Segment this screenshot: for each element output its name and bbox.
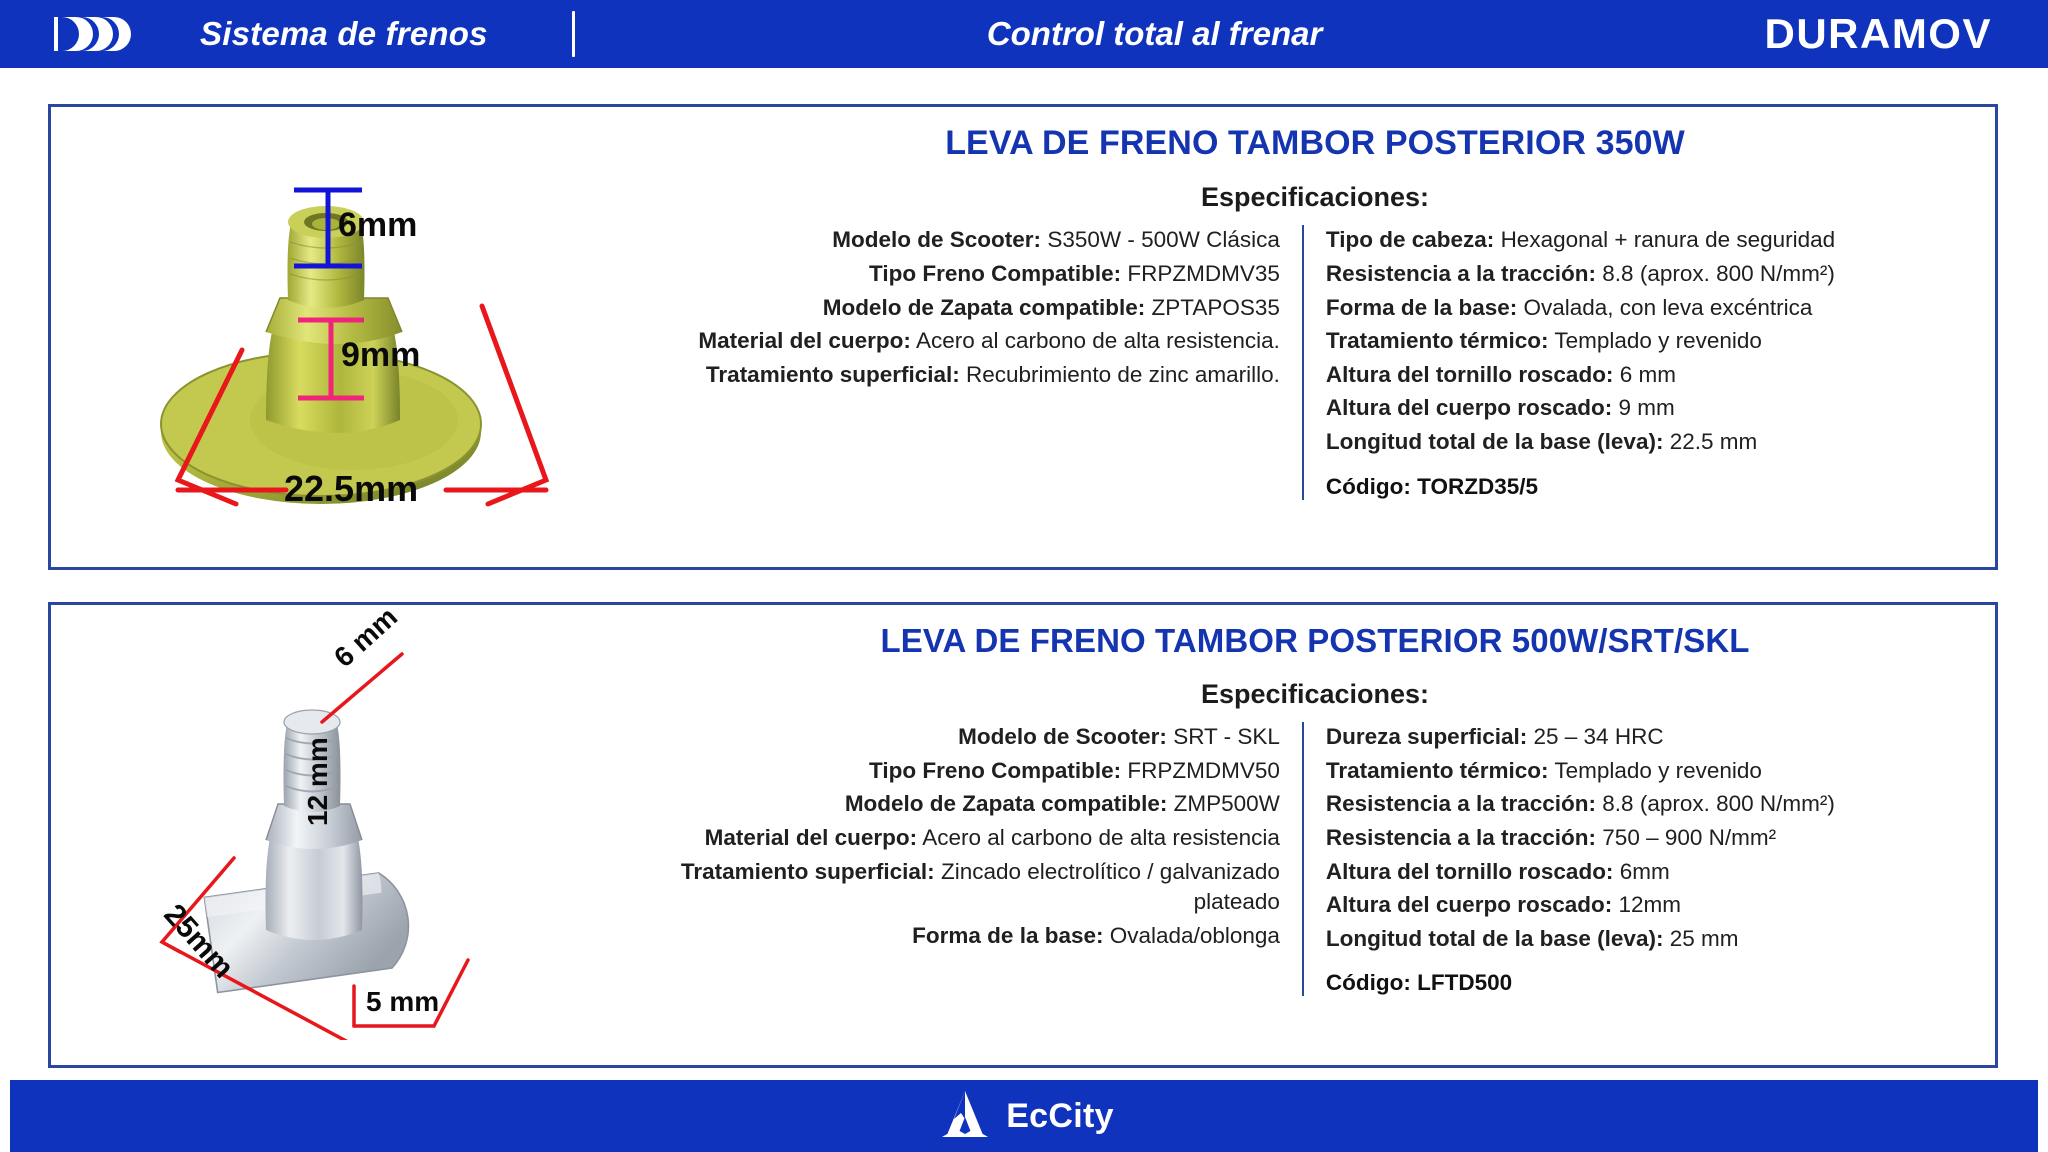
product-code: Código: LFTD500 [1326, 970, 1969, 996]
spec-row: Forma de la base: Ovalada, con leva excé… [1326, 293, 1969, 324]
spec-key: Tratamiento superficial: [681, 859, 935, 884]
eccity-logo-text: EcCity [1006, 1097, 1114, 1136]
spec-key: Resistencia a la tracción: [1326, 825, 1596, 850]
spec-row: Tratamiento térmico: Templado y revenido [1326, 756, 1969, 787]
spec-row: Altura del tornillo roscado: 6 mm [1326, 360, 1969, 391]
spec-column-right: Tipo de cabeza: Hexagonal + ranura de se… [1304, 225, 1969, 499]
spec-value: 25 – 34 HRC [1534, 724, 1664, 749]
spec-value: Ovalada/oblonga [1110, 923, 1280, 948]
spec-row: Tipo Freno Compatible: FRPZMDMV50 [661, 756, 1280, 787]
page-title: LEVA DE FRENO TAMBOR POSTERIOR 350W [661, 125, 1969, 162]
spec-value: 8.8 (aprox. 800 N/mm²) [1602, 791, 1835, 816]
spec-row: Resistencia a la tracción: 8.8 (aprox. 8… [1326, 789, 1969, 820]
spec-columns: Modelo de Scooter: S350W - 500W Clásica … [661, 225, 1969, 499]
spec-value: Templado y revenido [1554, 328, 1762, 353]
eccity-mountain-logo-icon [934, 1089, 996, 1144]
spec-value: 22.5 mm [1670, 429, 1758, 454]
spec-value: Recubrimiento de zinc amarillo. [966, 362, 1280, 387]
spec-row: Modelo de Scooter: S350W - 500W Clásica [661, 225, 1280, 256]
product-code: Código: TORZD35/5 [1326, 474, 1969, 500]
spec-row: Altura del cuerpo roscado: 12mm [1326, 890, 1969, 921]
spec-row: Tipo de cabeza: Hexagonal + ranura de se… [1326, 225, 1969, 256]
spec-value: SRT - SKL [1173, 724, 1280, 749]
header-title: Sistema de frenos [200, 15, 488, 53]
spec-key: Modelo de Scooter: [958, 724, 1167, 749]
product-card: 6mm 9mm 22.5mm LEVA DE FRENO TAMBOR POST… [48, 104, 1998, 570]
spec-column-right: Dureza superficial: 25 – 34 HRC Tratamie… [1304, 722, 1969, 996]
spec-key: Longitud total de la base (leva): [1326, 926, 1664, 951]
page-header: Sistema de frenos Control total al frena… [0, 0, 2048, 68]
spec-value: ZMP500W [1174, 791, 1280, 816]
spec-row: Resistencia a la tracción: 8.8 (aprox. 8… [1326, 259, 1969, 290]
spec-value: 9 mm [1618, 395, 1674, 420]
spec-key: Modelo de Scooter: [832, 227, 1041, 252]
eccity-logo: EcCity [934, 1089, 1114, 1144]
spec-value: 6 mm [1620, 362, 1676, 387]
spec-key: Altura del cuerpo roscado: [1326, 395, 1612, 420]
spec-key: Forma de la base: [912, 923, 1103, 948]
spec-row: Forma de la base: Ovalada/oblonga [661, 921, 1280, 952]
dim-label-9mm: 9mm [341, 336, 420, 375]
page-footer: EcCity [10, 1080, 2038, 1152]
spec-value: 750 – 900 N/mm² [1602, 825, 1776, 850]
dim-label-22-5mm: 22.5mm [284, 468, 418, 510]
brake-cam-350w-photo: 6mm 9mm 22.5mm [116, 132, 586, 542]
spec-value: ZPTAPOS35 [1152, 295, 1280, 320]
spec-key: Tipo Freno Compatible: [869, 758, 1121, 783]
duramov-logo: DURAMOV [1765, 10, 1993, 58]
ddd-monogram-logo [52, 11, 148, 57]
spec-value: Acero al carbono de alta resistencia. [916, 328, 1280, 353]
spec-row: Dureza superficial: 25 – 34 HRC [1326, 722, 1969, 753]
dim-label-5mm: 5 mm [366, 986, 439, 1018]
product-spec-sheet: Sistema de frenos Control total al frena… [0, 0, 2048, 1152]
spec-key: Tratamiento térmico: [1326, 328, 1549, 353]
spec-row: Material del cuerpo: Acero al carbono de… [661, 823, 1280, 854]
dim-label-12mm: 12 mm [302, 737, 334, 826]
spec-row: Tratamiento térmico: Templado y revenido [1326, 326, 1969, 357]
spec-value: S350W - 500W Clásica [1047, 227, 1280, 252]
dim-markers [162, 654, 468, 1040]
spec-key: Tipo de cabeza: [1326, 227, 1494, 252]
spec-key: Resistencia a la tracción: [1326, 791, 1596, 816]
page-title: LEVA DE FRENO TAMBOR POSTERIOR 500W/SRT/… [661, 623, 1969, 659]
spec-value: Ovalada, con leva excéntrica [1524, 295, 1813, 320]
spec-row: Modelo de Scooter: SRT - SKL [661, 722, 1280, 753]
spec-value: Acero al carbono de alta resistencia [922, 825, 1280, 850]
spec-key: Material del cuerpo: [698, 328, 911, 353]
spec-key: Altura del tornillo roscado: [1326, 362, 1614, 387]
spec-row: Resistencia a la tracción: 750 – 900 N/m… [1326, 823, 1969, 854]
spec-key: Forma de la base: [1326, 295, 1517, 320]
spec-key: Tratamiento superficial: [706, 362, 960, 387]
product-photo-pane: 6mm 9mm 22.5mm [51, 107, 651, 567]
spec-row: Longitud total de la base (leva): 22.5 m… [1326, 427, 1969, 458]
spec-row: Altura del tornillo roscado: 6mm [1326, 857, 1969, 888]
spec-value: 12mm [1618, 892, 1681, 917]
spec-key: Altura del tornillo roscado: [1326, 859, 1614, 884]
spec-column-left: Modelo de Scooter: SRT - SKL Tipo Freno … [661, 722, 1302, 996]
spec-column-left: Modelo de Scooter: S350W - 500W Clásica … [661, 225, 1302, 499]
spec-value: Zincado electrolítico / galvanizado plat… [941, 859, 1280, 915]
spec-key: Tratamiento térmico: [1326, 758, 1549, 783]
spec-value: Hexagonal + ranura de seguridad [1501, 227, 1836, 252]
spec-key: Material del cuerpo: [705, 825, 918, 850]
spec-row: Tratamiento superficial: Zincado electro… [661, 857, 1280, 918]
brake-cam-500w-photo: 6 mm 12 mm 25mm 5 mm [116, 630, 586, 1040]
spec-key: Tipo Freno Compatible: [869, 261, 1121, 286]
spec-key: Altura del cuerpo roscado: [1326, 892, 1612, 917]
spec-columns: Modelo de Scooter: SRT - SKL Tipo Freno … [661, 722, 1969, 996]
product-photo-pane: 6 mm 12 mm 25mm 5 mm [51, 605, 651, 1065]
spec-key: Modelo de Zapata compatible: [823, 295, 1146, 320]
spec-value: FRPZMDMV50 [1127, 758, 1280, 783]
dim-label-6mm: 6mm [338, 206, 417, 245]
product-card: 6 mm 12 mm 25mm 5 mm LEVA DE FRENO TAMBO… [48, 602, 1998, 1068]
product-info-pane: LEVA DE FRENO TAMBOR POSTERIOR 350W Espe… [651, 107, 1995, 567]
spec-heading: Especificaciones: [661, 182, 1969, 213]
spec-row: Modelo de Zapata compatible: ZMP500W [661, 789, 1280, 820]
spec-value: 8.8 (aprox. 800 N/mm²) [1602, 261, 1835, 286]
spec-row: Material del cuerpo: Acero al carbono de… [661, 326, 1280, 357]
spec-row: Modelo de Zapata compatible: ZPTAPOS35 [661, 293, 1280, 324]
spec-value: 6mm [1620, 859, 1670, 884]
spec-key: Longitud total de la base (leva): [1326, 429, 1664, 454]
header-tagline: Control total al frenar [575, 15, 1765, 53]
spec-row: Longitud total de la base (leva): 25 mm [1326, 924, 1969, 955]
spec-value: Templado y revenido [1554, 758, 1762, 783]
spec-value: 25 mm [1670, 926, 1739, 951]
spec-key: Modelo de Zapata compatible: [845, 791, 1168, 816]
spec-key: Dureza superficial: [1326, 724, 1527, 749]
product-info-pane: LEVA DE FRENO TAMBOR POSTERIOR 500W/SRT/… [651, 605, 1995, 1065]
spec-key: Resistencia a la tracción: [1326, 261, 1596, 286]
spec-row: Tratamiento superficial: Recubrimiento d… [661, 360, 1280, 391]
spec-row: Tipo Freno Compatible: FRPZMDMV35 [661, 259, 1280, 290]
spec-value: FRPZMDMV35 [1127, 261, 1280, 286]
spec-row: Altura del cuerpo roscado: 9 mm [1326, 393, 1969, 424]
spec-heading: Especificaciones: [661, 679, 1969, 710]
